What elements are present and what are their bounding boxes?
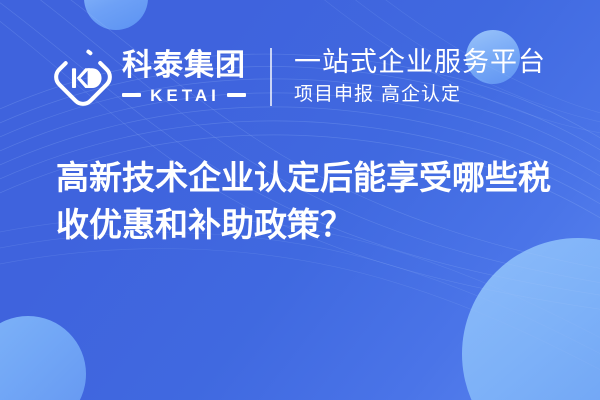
- page-title: 高新技术企业认定后能享受哪些税收优惠和补助政策？: [56, 155, 562, 249]
- circle-top-icon: [84, 0, 148, 30]
- slogan-sub: 项目申报 高企认定: [294, 84, 546, 106]
- brand-name-en: KETAI: [141, 87, 227, 104]
- brand-logo[interactable]: 科泰集团 KETAI: [54, 48, 246, 106]
- header-divider: [270, 48, 272, 106]
- slogan-main: 一站式企业服务平台: [294, 48, 546, 78]
- banner-header: 科泰集团 KETAI 一站式企业服务平台 项目申报 高企认定: [0, 32, 600, 122]
- wordmark-rule-right: [227, 93, 246, 97]
- slogan-block: 一站式企业服务平台 项目申报 高企认定: [294, 48, 546, 105]
- circle-left-icon: [0, 316, 86, 400]
- brand-name-en-row: KETAI: [122, 87, 246, 104]
- brand-name-cn: 科泰集团: [122, 51, 246, 81]
- ketai-kd-monogram-icon: [54, 48, 112, 106]
- circle-bottom-right-icon: [462, 238, 600, 400]
- wordmark-rule-left: [122, 93, 141, 97]
- promo-banner: 科泰集团 KETAI 一站式企业服务平台 项目申报 高企认定 高新技术企业认定后…: [0, 0, 600, 400]
- brand-wordmark: 科泰集团 KETAI: [122, 51, 246, 104]
